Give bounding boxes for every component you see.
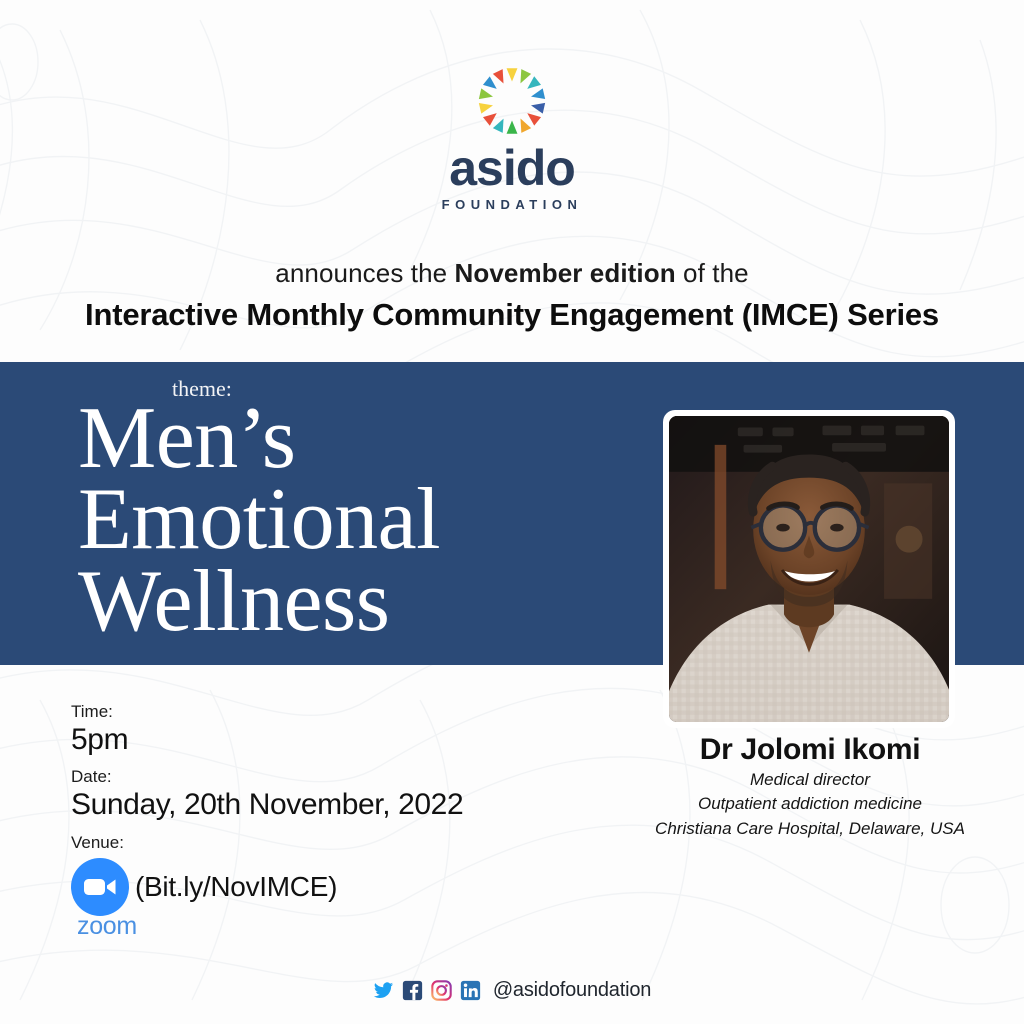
video-camera-glyph <box>83 876 117 898</box>
speaker-role-line-2: Outpatient addiction medicine <box>600 793 1020 815</box>
date-value: Sunday, 20th November, 2022 <box>71 788 463 822</box>
time-label: Time: <box>71 703 463 722</box>
zoom-video-camera-icon[interactable] <box>71 858 129 916</box>
announce-suffix: of the <box>676 258 749 288</box>
speaker-role-line-3: Christiana Care Hospital, Delaware, USA <box>600 818 1020 840</box>
announce-highlight: November edition <box>455 258 676 288</box>
event-details: Time: 5pm Date: Sunday, 20th November, 2… <box>71 703 463 941</box>
announcement-block: announces the November edition of the In… <box>0 258 1024 333</box>
asido-petal-ring-icon <box>473 62 551 140</box>
venue-link[interactable]: (Bit.ly/NovIMCE) <box>135 871 337 903</box>
speaker-photo-frame <box>663 410 955 728</box>
zoom-wordmark: zoom <box>77 912 463 941</box>
time-value: 5pm <box>71 723 463 757</box>
announcement-line-2: Interactive Monthly Community Engagement… <box>0 297 1024 333</box>
instagram-icon[interactable] <box>431 980 452 1001</box>
theme-title-line-2: Emotional <box>78 477 638 562</box>
brand-logo: asido FOUNDATION <box>0 62 1024 212</box>
linkedin-icon[interactable] <box>460 980 481 1001</box>
theme-block: theme: Men’s Emotional Wellness <box>78 378 638 644</box>
facebook-icon[interactable] <box>402 980 423 1001</box>
footer-social-bar: @asidofoundation <box>0 979 1024 1002</box>
speaker-name: Dr Jolomi Ikomi <box>600 733 1020 767</box>
speaker-photo <box>669 416 949 722</box>
brand-sub-wordmark: FOUNDATION <box>0 197 1024 212</box>
date-label: Date: <box>71 768 463 787</box>
theme-title-line-1: Men’s <box>78 396 638 481</box>
event-flyer: asido FOUNDATION announces the November … <box>0 0 1024 1024</box>
venue-row[interactable]: (Bit.ly/NovIMCE) <box>71 858 463 916</box>
venue-label: Venue: <box>71 834 463 853</box>
speaker-role-line-1: Medical director <box>600 769 1020 791</box>
social-handle[interactable]: @asidofoundation <box>493 979 651 1002</box>
theme-title-line-3: Wellness <box>78 559 638 644</box>
brand-wordmark: asido <box>0 142 1024 195</box>
speaker-block: Dr Jolomi Ikomi Medical director Outpati… <box>600 733 1020 840</box>
twitter-icon[interactable] <box>373 980 394 1001</box>
announce-prefix: announces the <box>275 258 454 288</box>
announcement-line-1: announces the November edition of the <box>0 258 1024 289</box>
